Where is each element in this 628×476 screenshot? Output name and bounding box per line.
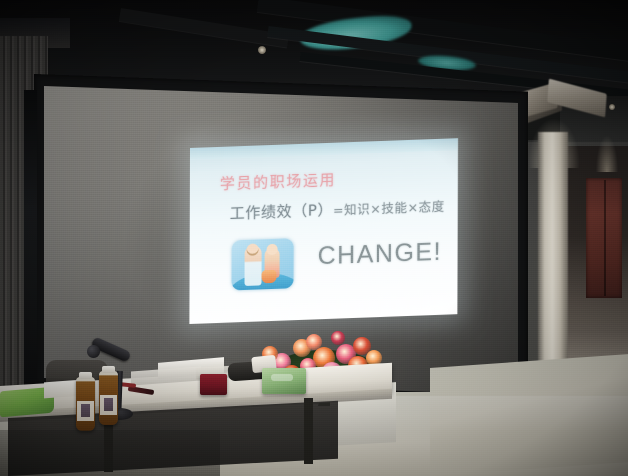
ceiling-spotlight-icon bbox=[258, 46, 266, 54]
bottle-label bbox=[77, 401, 94, 421]
bottle-cap bbox=[102, 366, 115, 373]
wall-recess-slot bbox=[24, 90, 37, 390]
door-seam bbox=[604, 180, 606, 296]
slide-change-text: CHANGE! bbox=[318, 238, 443, 272]
wall-light-glow bbox=[596, 136, 618, 172]
bottle-cap bbox=[79, 372, 92, 379]
slide-canvas: 学员的职场运用 工作绩效（P）=知识×技能×态度 CHANGE! bbox=[189, 138, 458, 324]
bottle-label bbox=[100, 395, 117, 415]
flower-bloom bbox=[331, 331, 345, 345]
slide-title: 学员的职场运用 bbox=[220, 169, 336, 194]
microphone-capsule bbox=[87, 345, 100, 358]
tea-bottle bbox=[99, 371, 118, 425]
table-leg bbox=[304, 398, 313, 464]
illustration-prop bbox=[262, 270, 277, 284]
projected-slide: 学员的职场运用 工作绩效（P）=知识×技能×态度 CHANGE! bbox=[189, 138, 458, 324]
tea-bottle bbox=[76, 377, 95, 431]
formula-main: 工作绩效（P） bbox=[230, 201, 333, 223]
red-box bbox=[200, 374, 227, 395]
lit-pillar bbox=[538, 132, 568, 378]
ceiling-spotlight-icon bbox=[609, 104, 615, 110]
two-people-illustration bbox=[231, 238, 293, 290]
green-tissue-box bbox=[262, 368, 306, 394]
floor-shadow bbox=[0, 430, 220, 476]
conference-room-photo: 学员的职场运用 工作绩效（P）=知识×技能×态度 CHANGE! bbox=[0, 0, 628, 476]
slide-formula: 工作绩效（P）=知识×技能×态度 bbox=[230, 195, 445, 224]
flower-bloom bbox=[306, 334, 322, 350]
formula-tail: =知识×技能×态度 bbox=[333, 199, 445, 218]
